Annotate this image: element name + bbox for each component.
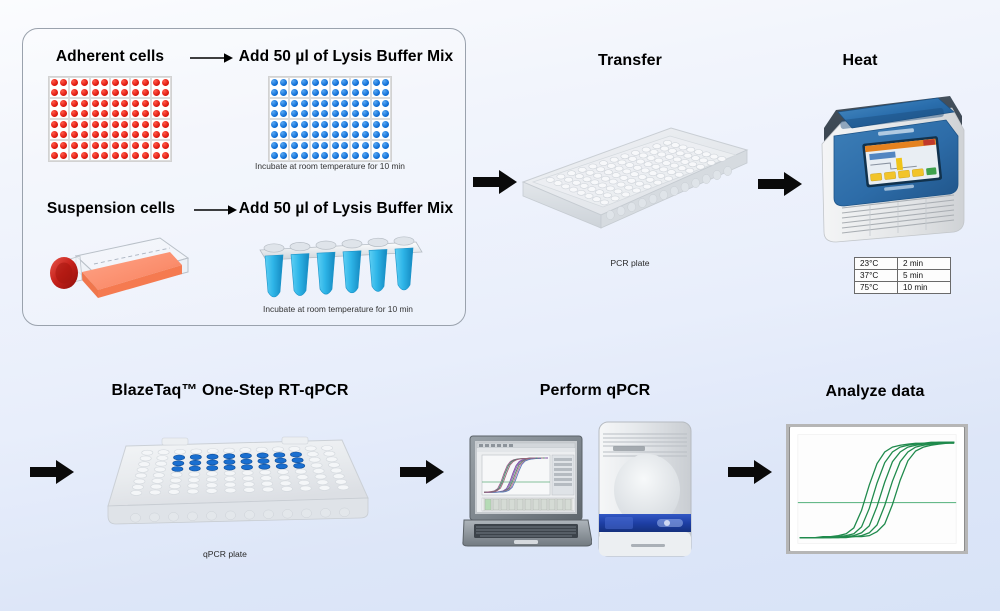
pcr-plate-well	[575, 174, 583, 179]
qpcr-plate-well-empty	[168, 489, 179, 494]
plate-well-dot	[51, 152, 58, 159]
plate-well-dot	[321, 121, 328, 128]
pcr-plate-well	[654, 180, 662, 185]
laptop-table-cell	[517, 499, 523, 510]
qpcr-plate-well-empty	[322, 446, 333, 451]
adherent-cell-plate	[48, 76, 172, 162]
pcr-plate-well	[572, 180, 580, 185]
pcr-plate-well	[554, 181, 562, 186]
plate-well-dot	[142, 110, 149, 117]
plate-well-dot	[132, 152, 139, 159]
plate-well-dot	[81, 110, 88, 117]
pcr-plate-well	[562, 184, 570, 189]
qpcr-plate-well-tip	[321, 508, 331, 517]
laptop-table-cell	[501, 499, 507, 510]
pcr-plate-icon	[505, 110, 755, 230]
adherent-cells-label: Adherent cells	[40, 48, 180, 66]
plate-well-dot	[132, 79, 139, 86]
plate-well-dot	[92, 142, 99, 149]
plate-well-dot	[121, 89, 128, 96]
plate-well-block	[69, 98, 89, 119]
thermal-time-cell: 2 min	[898, 258, 951, 270]
pcr-plate-well	[684, 153, 692, 158]
qpcr-plate-well-filled	[224, 465, 235, 470]
qpcr-plate-well-tip	[226, 511, 236, 520]
qpcr-plate-well-filled	[241, 465, 252, 470]
plate-well-dot	[352, 110, 359, 117]
incubate-caption-adherent: Incubate at room temperature for 10 min	[250, 161, 410, 171]
qpcr-plate-well-empty	[156, 461, 167, 466]
plate-well-block	[330, 77, 350, 98]
pcr-plate-well	[641, 168, 649, 173]
plate-well-dot	[101, 121, 108, 128]
plate-well-block	[110, 77, 130, 98]
qpcr-plate-well-filled	[207, 460, 218, 465]
pcr-plate-well	[606, 186, 614, 191]
qpcr-plate-well-empty	[305, 446, 316, 451]
pcr-plate-well	[636, 159, 644, 164]
plate-well-dot	[71, 89, 78, 96]
qpcr-plate-well-empty	[256, 447, 267, 452]
qpcr-plate-well-empty	[333, 474, 344, 479]
plate-well-block	[69, 119, 89, 140]
plate-well-dot	[153, 89, 160, 96]
plate-well-dot	[153, 100, 160, 107]
plate-well-dot	[112, 89, 119, 96]
qpcr-plate-well-filled	[224, 459, 235, 464]
plate-well-dot	[312, 131, 319, 138]
qpcr-plate-well-empty	[131, 490, 142, 495]
plate-well-block	[269, 77, 289, 98]
qpcr-plate-well-tip	[207, 511, 217, 520]
pcr-plate-well	[667, 170, 675, 175]
pcr-plate-well	[702, 152, 710, 157]
plate-well-block	[371, 98, 391, 119]
plate-well-dot	[121, 79, 128, 86]
plate-well-block	[130, 98, 150, 119]
pcr-plate-well	[609, 179, 617, 184]
plate-well-dot	[280, 121, 287, 128]
qpcr-plate-well-filled	[207, 454, 218, 459]
pcr-plate-well	[589, 164, 597, 169]
plate-well-dot	[81, 121, 88, 128]
qpcr-plate-well-empty	[189, 472, 200, 477]
pcr-plate-well	[692, 156, 700, 161]
laptop-table-cell	[541, 499, 547, 510]
plate-well-dot	[382, 79, 389, 86]
plate-well-dot	[51, 121, 58, 128]
qpcr-plate-well-empty	[151, 484, 162, 489]
qpcr-plate-well-empty	[191, 449, 202, 454]
plate-well-dot	[301, 142, 308, 149]
qpcr-plate-well-empty	[262, 487, 273, 492]
pcr-plate-well	[603, 193, 611, 198]
qpcr-plate-well-empty	[335, 479, 346, 484]
plate-well-dot	[101, 89, 108, 96]
plate-well-block	[151, 77, 171, 98]
plate-well-dot	[121, 121, 128, 128]
plate-well-block	[289, 98, 309, 119]
qpcr-plate-well-tip	[264, 510, 274, 519]
qpcr-plate-well-empty	[150, 490, 161, 495]
pcr-plate-well	[660, 167, 668, 172]
qpcr-plate-well-empty	[297, 475, 308, 480]
pcr-plate-well	[610, 157, 618, 162]
qpcr-plate-well-empty	[331, 468, 342, 473]
pcr-plate-well-tip	[670, 186, 678, 195]
plate-well-dot	[162, 152, 169, 159]
plate-well-block	[90, 140, 110, 161]
plate-well-dot	[51, 131, 58, 138]
plate-well-block	[310, 140, 330, 161]
pcr-plate-well	[671, 143, 679, 148]
laptop-table-cell	[509, 499, 515, 510]
qpcr-plate-well-empty	[187, 489, 198, 494]
pcr-plate-well	[663, 140, 671, 145]
plate-well-dot	[101, 110, 108, 117]
qpcr-plate-well-empty	[281, 486, 292, 491]
thermal-temperature-cell: 37°C	[855, 270, 898, 282]
pcr-plate-well	[653, 144, 661, 149]
thermal-program-table: 23°C2 min37°C5 min75°C10 min	[854, 257, 951, 294]
plate-well-dot	[121, 110, 128, 117]
qpcr-plate-well-filled	[190, 455, 201, 460]
plate-well-dot	[60, 131, 67, 138]
pcr-plate-well	[594, 173, 602, 178]
plate-well-block	[289, 119, 309, 140]
qpcr-plate-well-empty	[139, 462, 150, 467]
plate-well-block	[269, 140, 289, 161]
pcr-plate-well	[601, 176, 609, 181]
plate-well-dot	[81, 131, 88, 138]
plate-well-dot	[341, 100, 348, 107]
pcr-plate-well	[583, 177, 591, 182]
plate-well-dot	[301, 121, 308, 128]
qpcr-plate-well-tip	[283, 509, 293, 518]
plate-well-dot	[153, 131, 160, 138]
plate-well-dot	[373, 89, 380, 96]
pcr-plate-well-tip	[649, 194, 657, 203]
qpcr-plate-well-filled	[190, 460, 201, 465]
plate-well-dot	[162, 100, 169, 107]
plate-well-dot	[321, 142, 328, 149]
pcr-plate-well	[694, 150, 702, 155]
qpcr-plate-well-empty	[243, 482, 254, 487]
qpcr-plate-well-empty	[224, 477, 235, 482]
pcr-plate-well	[557, 174, 565, 179]
plate-well-dot	[382, 131, 389, 138]
plate-well-dot	[51, 100, 58, 107]
qpcr-plate-well-empty	[328, 462, 339, 467]
workflow-diagram: Adherent cells Add 50 µl of Lysis Buffer…	[0, 0, 1000, 611]
pcr-tube-strip-icon	[256, 236, 426, 308]
plate-well-dot	[271, 142, 278, 149]
plate-well-dot	[92, 89, 99, 96]
plate-well-dot	[362, 79, 369, 86]
qpcr-plate-caption: qPCR plate	[170, 549, 280, 559]
pcr-plate-well-tip	[713, 170, 721, 179]
qpcr-plate-well-filled	[290, 452, 301, 457]
pcr-plate-well	[646, 177, 654, 182]
plate-well-dot	[301, 100, 308, 107]
plate-well-dot	[291, 100, 298, 107]
qpcr-plate-well-empty	[315, 474, 326, 479]
pcr-plate-well	[569, 187, 577, 192]
pcr-plate-well-tip	[692, 178, 700, 187]
plate-well-block	[69, 140, 89, 161]
plate-well-dot	[71, 152, 78, 159]
plate-well-dot	[71, 131, 78, 138]
pcr-plate-well	[591, 180, 599, 185]
qpcr-plate-well-filled	[292, 458, 303, 463]
pcr-plate-well	[635, 181, 643, 186]
pcr-plate-well	[625, 185, 633, 190]
pcr-plate-well-tip	[660, 190, 668, 199]
plate-well-dot	[60, 100, 67, 107]
pcr-plate-caption: PCR plate	[575, 258, 685, 268]
qpcr-plate-well-filled	[274, 453, 285, 458]
pcr-plate-well	[580, 183, 588, 188]
plate-well-dot	[291, 79, 298, 86]
plate-well-dot	[352, 121, 359, 128]
thermal-time-cell: 5 min	[898, 270, 951, 282]
qpcr-plate-well-empty	[307, 452, 318, 457]
plate-well-dot	[321, 152, 328, 159]
plate-well-dot	[71, 100, 78, 107]
qpcr-plate-well-filled	[189, 466, 200, 471]
plate-well-dot	[312, 142, 319, 149]
qpcr-plate-well-empty	[188, 478, 199, 483]
plate-well-dot	[352, 89, 359, 96]
plate-well-dot	[121, 142, 128, 149]
pcr-plate-well	[632, 188, 640, 193]
pcr-plate-well	[643, 184, 651, 189]
plate-well-dot	[92, 100, 99, 107]
plate-well-dot	[60, 121, 67, 128]
pcr-plate-well	[586, 170, 594, 175]
plate-well-dot	[321, 79, 328, 86]
pcr-plate-well	[696, 164, 704, 169]
qpcr-plate-well-empty	[289, 446, 300, 451]
plate-well-dot	[71, 121, 78, 128]
plate-well-dot	[121, 152, 128, 159]
pcr-plate-well	[673, 157, 681, 162]
qpcr-instrument-icon	[595, 418, 695, 560]
plate-well-dot	[153, 152, 160, 159]
pcr-plate-well	[687, 147, 695, 152]
plate-well-dot	[312, 100, 319, 107]
plate-well-block	[130, 140, 150, 161]
qpcr-plate-icon	[96, 412, 376, 538]
plate-well-dot	[332, 89, 339, 96]
pcr-plate-well	[642, 147, 650, 152]
plate-well-dot	[341, 110, 348, 117]
plate-well-dot	[162, 110, 169, 117]
qpcr-plate-well-tip	[188, 512, 198, 521]
plate-well-dot	[373, 110, 380, 117]
plate-well-dot	[362, 100, 369, 107]
plate-well-dot	[101, 79, 108, 86]
plate-well-dot	[162, 142, 169, 149]
pcr-plate-well	[629, 156, 637, 161]
plate-well-dot	[280, 110, 287, 117]
plate-well-dot	[291, 89, 298, 96]
plate-well-dot	[332, 152, 339, 159]
suspension-cells-label: Suspension cells	[36, 200, 186, 218]
plate-well-dot	[60, 142, 67, 149]
pcr-plate-well	[621, 154, 629, 159]
plate-well-dot	[382, 152, 389, 159]
plate-well-dot	[271, 79, 278, 86]
qpcr-plate-well-filled	[173, 461, 184, 466]
laptop-table-cell	[549, 499, 555, 510]
plate-well-dot	[332, 110, 339, 117]
plate-well-dot	[321, 100, 328, 107]
pcr-plate-well	[622, 192, 630, 197]
plate-well-dot	[373, 100, 380, 107]
plate-well-dot	[352, 152, 359, 159]
analyze-data-label: Analyze data	[800, 383, 950, 401]
qpcr-plate-well-empty	[262, 481, 273, 486]
plate-well-dot	[321, 110, 328, 117]
qpcr-plate-well-empty	[279, 475, 290, 480]
qpcr-plate-well-empty	[135, 473, 146, 478]
pcr-plate-well	[630, 172, 638, 177]
qpcr-plate-well-empty	[272, 447, 283, 452]
plate-well-dot	[280, 89, 287, 96]
plate-well-dot	[341, 142, 348, 149]
qpcr-plate-well-filled	[224, 454, 235, 459]
plate-well-dot	[142, 121, 149, 128]
pcr-plate-well-tip	[617, 206, 625, 215]
plate-well-dot	[301, 79, 308, 86]
pcr-plate-well	[670, 163, 678, 168]
qpcr-plate-well-filled	[172, 467, 183, 472]
pcr-plate-well	[718, 156, 726, 161]
plate-well-block	[151, 119, 171, 140]
qpcr-plate-well-empty	[295, 469, 306, 474]
pcr-plate-well	[567, 171, 575, 176]
plate-well-dot	[362, 89, 369, 96]
plate-well-block	[371, 140, 391, 161]
plate-well-dot	[92, 79, 99, 86]
qpcr-plate-well-empty	[170, 478, 181, 483]
plate-well-dot	[362, 152, 369, 159]
qpcr-plate-well-empty	[174, 449, 185, 454]
qpcr-plate-well-empty	[157, 456, 168, 461]
pcr-plate-well	[664, 176, 672, 181]
plate-well-dot	[291, 131, 298, 138]
qpcr-plate-well-empty	[132, 485, 143, 490]
amplification-plot-svg	[789, 427, 965, 551]
qpcr-plate-well-filled	[276, 464, 287, 469]
plate-well-dot	[332, 131, 339, 138]
qpcr-plate-well-tip	[169, 512, 179, 521]
plate-well-block	[49, 77, 69, 98]
plate-well-dot	[373, 142, 380, 149]
pcr-plate-well	[710, 154, 718, 159]
plate-well-dot	[373, 131, 380, 138]
plate-well-dot	[81, 79, 88, 86]
perform-qpcr-label: Perform qPCR	[520, 382, 670, 400]
plate-well-block	[130, 77, 150, 98]
plate-well-block	[371, 119, 391, 140]
pcr-plate-well	[647, 156, 655, 161]
qpcr-plate-well-filled	[294, 463, 305, 468]
pcr-plate-well	[593, 197, 601, 202]
amplification-chart	[786, 424, 968, 554]
plate-well-dot	[142, 79, 149, 86]
blazetaq-label: BlazeTaq™ One-Step RT-qPCR	[95, 382, 365, 400]
plate-well-dot	[101, 142, 108, 149]
plate-well-dot	[121, 131, 128, 138]
qpcr-plate-well-empty	[140, 456, 151, 461]
qpcr-plate-well-filled	[207, 466, 218, 471]
plate-well-block	[90, 119, 110, 140]
plate-well-dot	[312, 79, 319, 86]
pcr-plate-well	[597, 167, 605, 172]
plate-well-dot	[301, 110, 308, 117]
plate-well-block	[49, 119, 69, 140]
plate-well-dot	[373, 152, 380, 159]
plate-well-dot	[132, 131, 139, 138]
pcr-plate-well	[618, 160, 626, 165]
plate-well-dot	[101, 100, 108, 107]
qpcr-plate-well-empty	[225, 488, 236, 493]
thin-arrow-right-icon-1	[188, 51, 234, 65]
plate-well-block	[289, 77, 309, 98]
pcr-plate-well	[612, 173, 620, 178]
qpcr-plate-well-filled	[240, 453, 251, 458]
plate-well-block	[350, 119, 370, 140]
plate-well-dot	[132, 121, 139, 128]
plate-well-block	[350, 77, 370, 98]
pcr-plate-well-tip	[606, 210, 614, 219]
plate-well-dot	[132, 142, 139, 149]
incubate-caption-suspension: Incubate at room temperature for 10 min	[250, 304, 426, 314]
qpcr-plate-well-empty	[154, 467, 165, 472]
qpcr-plate-well-empty	[142, 450, 153, 455]
pcr-plate-well	[599, 161, 607, 166]
pcr-plate-well-tip	[702, 174, 710, 183]
plate-well-dot	[291, 142, 298, 149]
pcr-plate-well	[676, 151, 684, 156]
plate-well-dot	[162, 131, 169, 138]
plate-well-dot	[362, 131, 369, 138]
plate-well-dot	[301, 152, 308, 159]
plate-well-block	[371, 77, 391, 98]
plate-well-dot	[352, 100, 359, 107]
plate-well-dot	[332, 142, 339, 149]
plate-well-dot	[71, 110, 78, 117]
plate-well-dot	[153, 142, 160, 149]
pcr-plate-well	[657, 173, 665, 178]
plate-well-dot	[112, 131, 119, 138]
qpcr-plate-well-empty	[300, 486, 311, 491]
plate-well-dot	[341, 152, 348, 159]
plate-well-block	[269, 98, 289, 119]
pcr-plate-well	[707, 160, 715, 165]
plate-well-dot	[92, 110, 99, 117]
plate-well-dot	[332, 79, 339, 86]
laptop-table-cell	[557, 499, 563, 510]
qpcr-plate-well-empty	[207, 449, 218, 454]
pcr-plate-well	[546, 177, 554, 182]
block-arrow-right-icon-3	[30, 458, 74, 486]
qpcr-plate-well-tip	[131, 513, 141, 522]
qpcr-plate-well-empty	[206, 488, 217, 493]
plate-well-dot	[81, 152, 88, 159]
